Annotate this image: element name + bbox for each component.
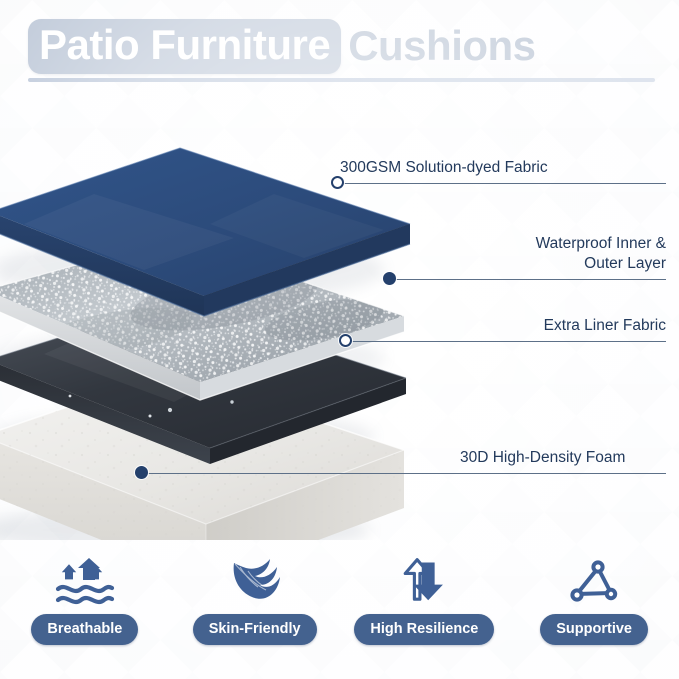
feature-label[interactable]: Breathable	[31, 614, 138, 645]
title-plain: Cushions	[341, 21, 535, 71]
callout-rule	[348, 341, 666, 342]
feature-label[interactable]: High Resilience	[354, 614, 494, 645]
callout-liner: Extra Liner Fabric	[348, 318, 666, 342]
triangle-nodes-icon	[567, 556, 621, 608]
infographic-canvas: Patio Furniture Cushions	[0, 0, 679, 679]
title-underline	[28, 78, 655, 82]
breathable-airflow-icon	[53, 556, 117, 608]
callout-rule	[392, 279, 666, 280]
callout-marker-solid	[383, 272, 396, 285]
feature-label[interactable]: Skin-Friendly	[193, 614, 317, 645]
callout-waterproof: Waterproof Inner & Outer Layer	[392, 236, 666, 280]
callout-label: 300GSM Solution-dyed Fabric	[340, 158, 548, 178]
callout-label: Waterproof Inner & Outer Layer	[536, 234, 666, 274]
callout-rule	[340, 183, 666, 184]
feather-icon	[226, 556, 284, 608]
callout-foam: 30D High-Density Foam	[144, 450, 666, 474]
header: Patio Furniture Cushions	[0, 18, 679, 90]
title-highlight: Patio Furniture	[28, 19, 341, 74]
feature-skin-friendly[interactable]: Skin-Friendly	[180, 556, 330, 645]
callout-marker-solid	[135, 466, 148, 479]
up-down-arrows-icon	[398, 556, 450, 608]
feature-badges: Breathable Skin-Friendly	[0, 556, 679, 666]
callout-label: 30D High-Density Foam	[460, 448, 625, 468]
feature-label[interactable]: Supportive	[540, 614, 648, 645]
feature-breathable[interactable]: Breathable	[10, 556, 160, 645]
callout-marker-ring	[331, 176, 344, 189]
callout-rule	[144, 473, 666, 474]
page-title: Patio Furniture Cushions	[28, 18, 536, 74]
callout-label: Extra Liner Fabric	[544, 316, 666, 336]
callout-marker-ring	[339, 334, 352, 347]
feature-supportive[interactable]: Supportive	[519, 556, 669, 645]
feature-high-resilience[interactable]: High Resilience	[349, 556, 499, 645]
callout-fabric: 300GSM Solution-dyed Fabric	[340, 160, 666, 184]
